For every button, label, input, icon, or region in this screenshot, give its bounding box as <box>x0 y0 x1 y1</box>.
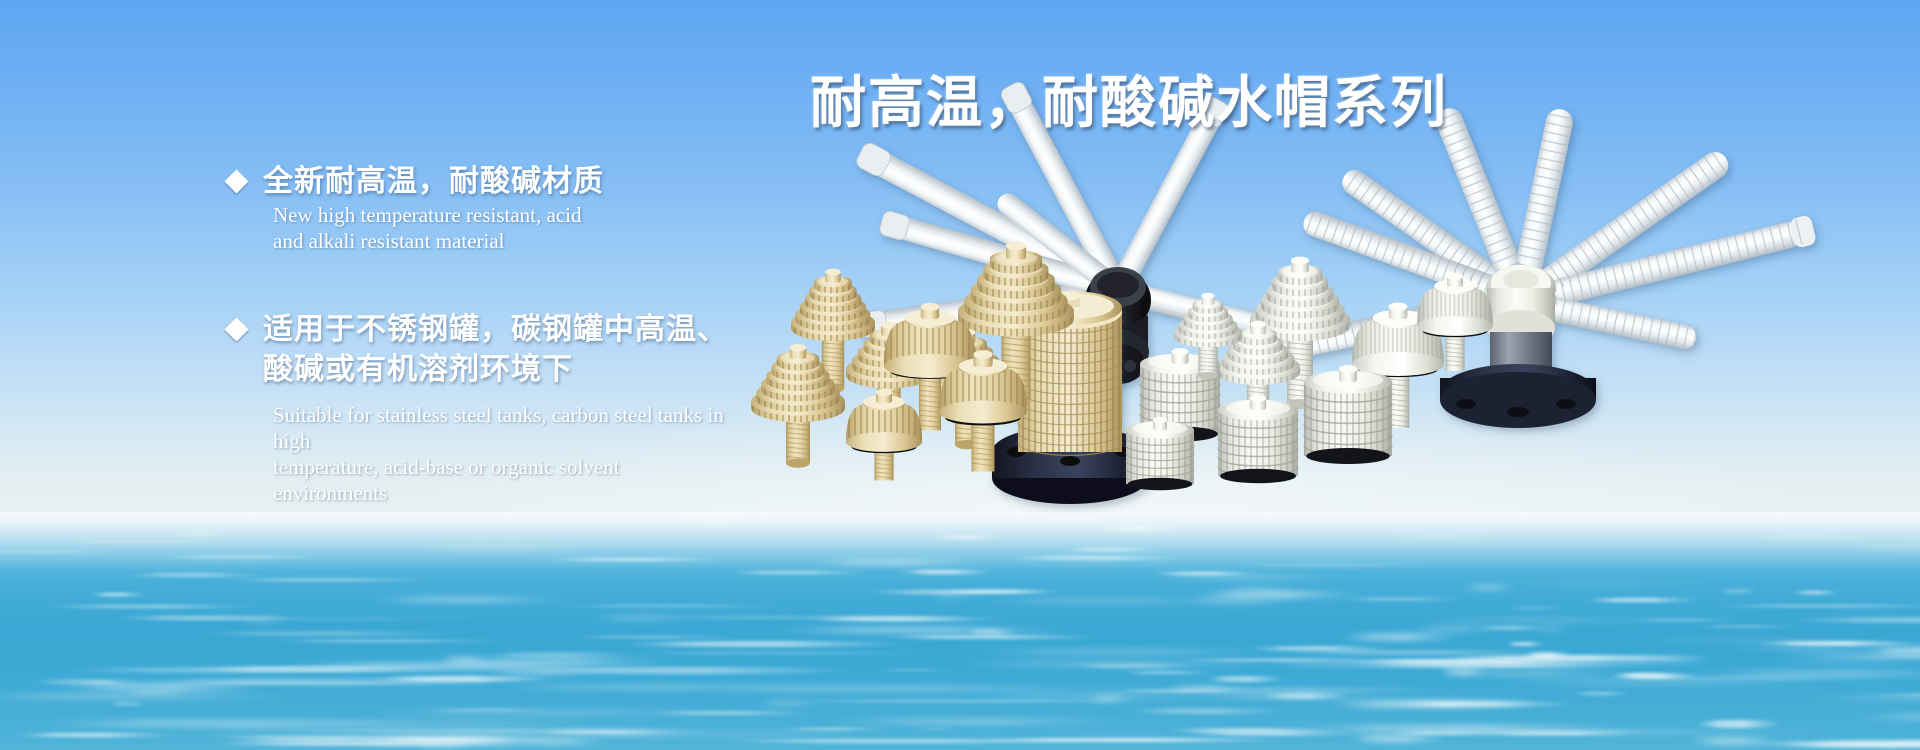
feature-1-heading: 全新耐高温，耐酸碱材质 <box>263 162 604 202</box>
feature-bullet-2: 适用于不锈钢罐，碳钢罐中高温、 酸碱或有机溶剂环境下 Suitable for … <box>228 310 728 390</box>
banner-root: 耐高温，耐酸碱水帽系列 全新耐高温，耐酸碱材质 New high tempera… <box>0 0 1920 750</box>
feature-bullet-1: 全新耐高温，耐酸碱材质 New high temperature resista… <box>228 162 604 202</box>
feature-2-heading: 适用于不锈钢罐，碳钢罐中高温、 酸碱或有机溶剂环境下 <box>263 310 728 390</box>
water-background <box>0 512 1920 750</box>
diamond-bullet-icon <box>224 317 248 341</box>
feature-1-subtext: New high temperature resistant, acid and… <box>273 202 604 254</box>
feature-2-subtext: Suitable for stainless steel tanks, carb… <box>273 402 728 506</box>
page-title: 耐高温，耐酸碱水帽系列 <box>810 58 1510 139</box>
diamond-bullet-icon <box>224 169 248 193</box>
